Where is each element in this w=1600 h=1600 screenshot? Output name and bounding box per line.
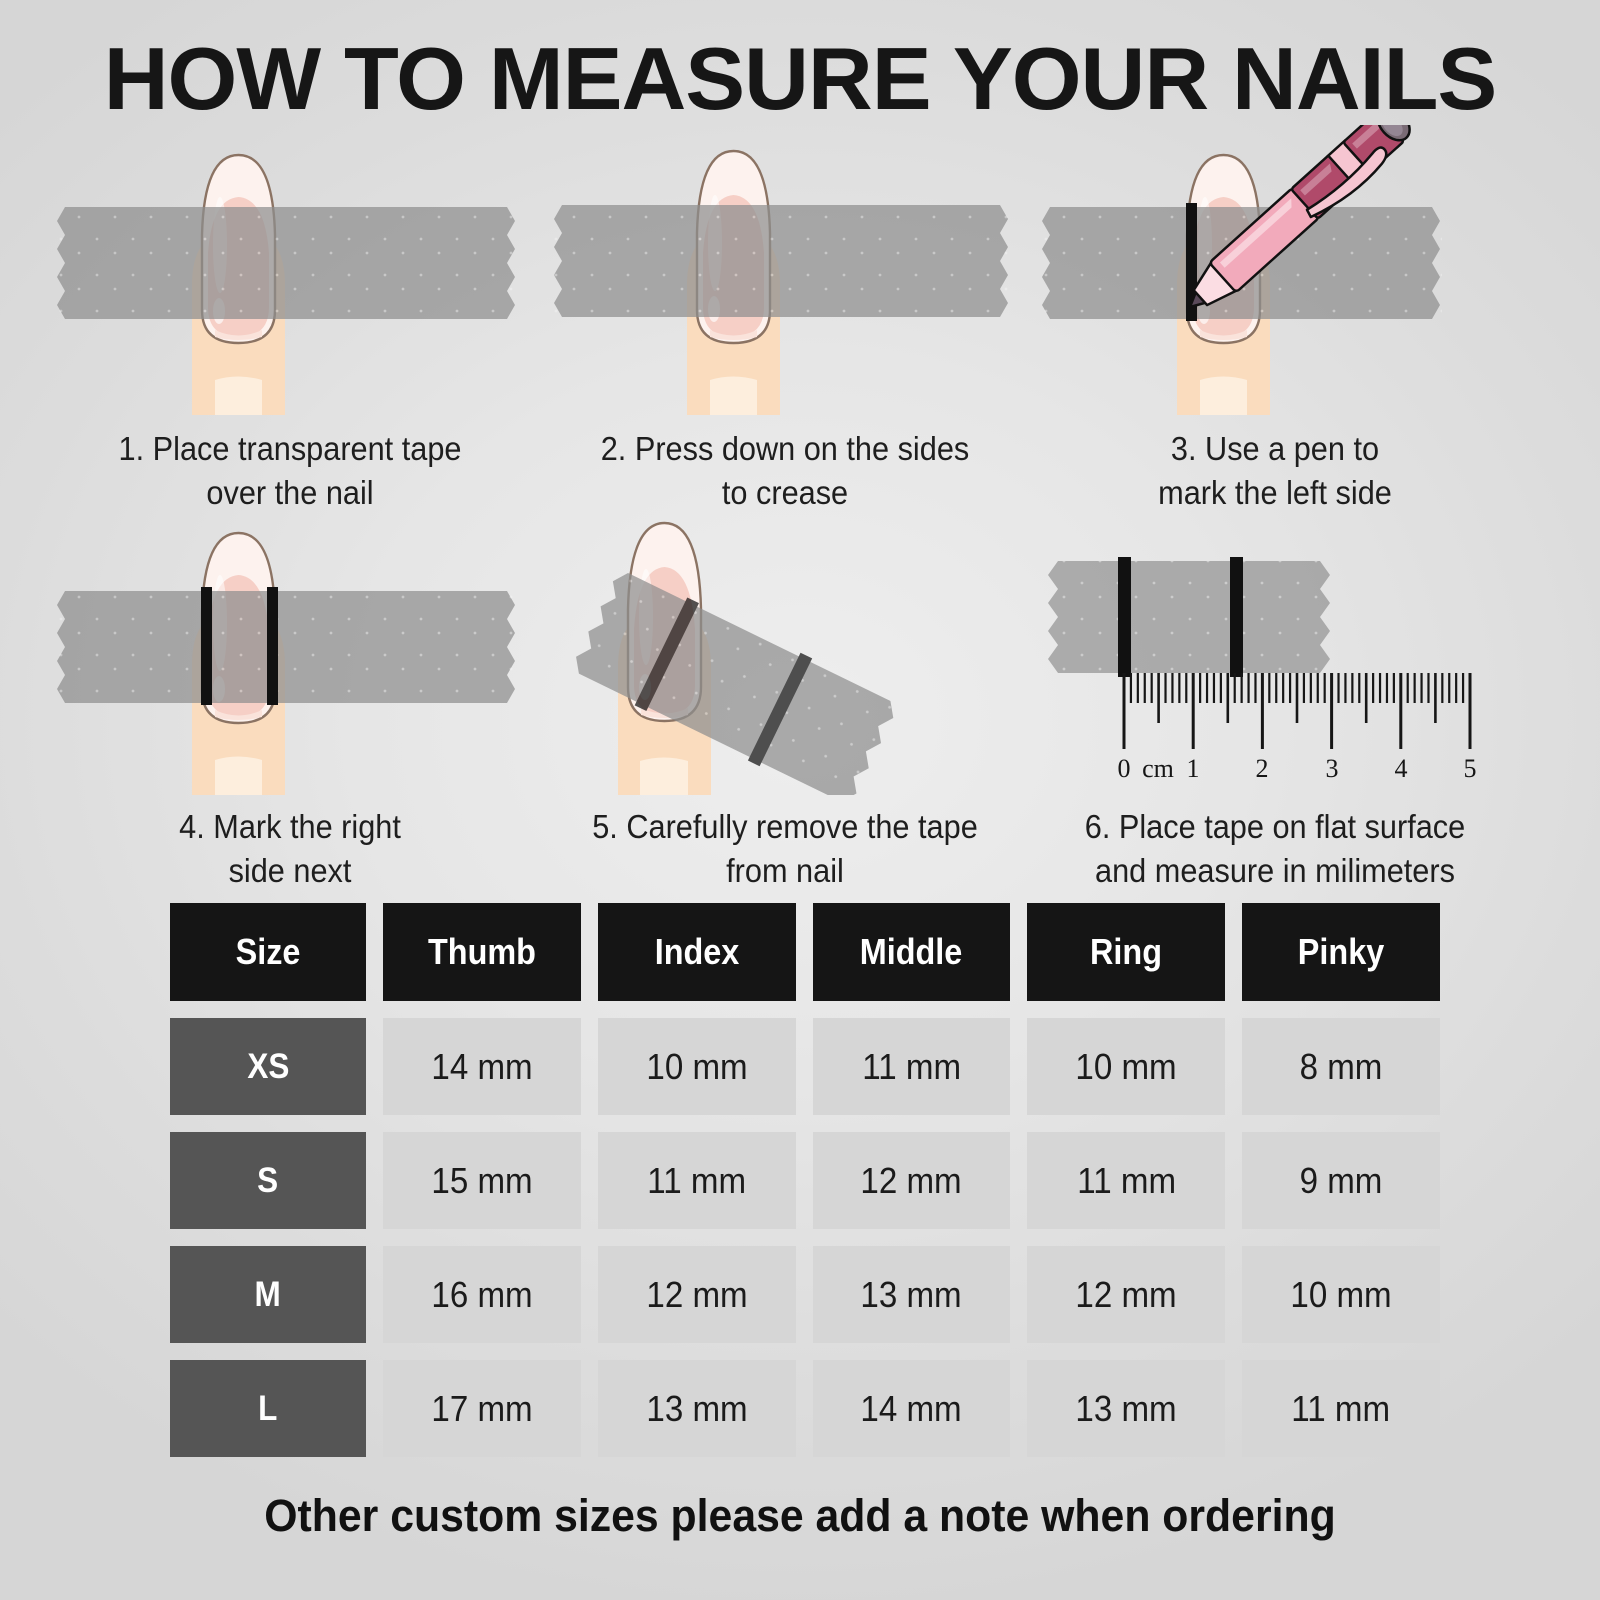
header-thumb: Thumb (383, 903, 581, 1001)
left-mark (201, 587, 212, 705)
table-row: L 17 mm 13 mm 14 mm 13 mm 11 mm (170, 1360, 1440, 1457)
table-row: S 15 mm 11 mm 12 mm 11 mm 9 mm (170, 1132, 1440, 1229)
infographic-page: HOW TO MEASURE YOUR NAILS (0, 0, 1600, 1600)
cell-m-thumb: 16 mm (383, 1246, 581, 1343)
header-pinky: Pinky (1242, 903, 1440, 1001)
step-2: 2. Press down on the sides to crease (550, 125, 1020, 514)
header-index: Index (598, 903, 796, 1001)
header-size: Size (170, 903, 366, 1001)
step-5-caption: 5. Carefully remove the tape from nail (553, 805, 1018, 892)
step-5-illustration (550, 505, 1020, 795)
cell-xs-thumb: 14 mm (383, 1018, 581, 1115)
table-header-row: Size Thumb Index Middle Ring Pinky (170, 903, 1440, 1001)
cell-m-index: 12 mm (598, 1246, 796, 1343)
step-6: 0 cm 1 2 3 4 5 6. Place tape on flat sur… (1040, 505, 1510, 892)
cell-l-index: 13 mm (598, 1360, 796, 1457)
size-label-m: M (170, 1246, 366, 1343)
step-4: 4. Mark the right side next (55, 505, 525, 892)
step-4-illustration (55, 505, 525, 795)
size-label-s: S (170, 1132, 366, 1229)
cell-xs-pinky: 8 mm (1242, 1018, 1440, 1115)
right-mark (267, 587, 278, 705)
step-2-caption: 2. Press down on the sides to crease (566, 427, 1003, 514)
svg-text:4: 4 (1395, 754, 1408, 783)
step-3-caption: 3. Use a pen to mark the left side (1056, 427, 1493, 514)
ruler (1124, 673, 1470, 749)
step-1-caption: 1. Place transparent tape over the nail (71, 427, 508, 514)
size-label-l: L (170, 1360, 366, 1457)
header-middle: Middle (813, 903, 1011, 1001)
tape-strip (57, 207, 515, 319)
step-5: 5. Carefully remove the tape from nail (550, 505, 1020, 892)
size-label-xs: XS (170, 1018, 366, 1115)
ruler-labels: 0 cm 1 2 3 4 5 (1118, 754, 1477, 783)
size-table: Size Thumb Index Middle Ring Pinky XS 14… (170, 903, 1440, 1474)
svg-text:3: 3 (1326, 754, 1339, 783)
footer-note: Other custom sizes please add a note whe… (40, 1490, 1560, 1542)
tape-strip (57, 591, 515, 703)
step-2-illustration (550, 125, 1020, 415)
table-row: M 16 mm 12 mm 13 mm 12 mm 10 mm (170, 1246, 1440, 1343)
tape-strip-creased (554, 205, 1010, 317)
cell-s-middle: 12 mm (813, 1132, 1011, 1229)
step-6-caption: 6. Place tape on flat surface and measur… (1043, 805, 1508, 892)
cell-s-index: 11 mm (598, 1132, 796, 1229)
step-3: 3. Use a pen to mark the left side (1040, 125, 1510, 514)
cell-l-ring: 13 mm (1027, 1360, 1225, 1457)
step-1-illustration (55, 125, 525, 415)
svg-text:2: 2 (1256, 754, 1269, 783)
cell-xs-index: 10 mm (598, 1018, 796, 1115)
cell-m-ring: 12 mm (1027, 1246, 1225, 1343)
cell-xs-middle: 11 mm (813, 1018, 1011, 1115)
step-4-caption: 4. Mark the right side next (71, 805, 508, 892)
table-row: XS 14 mm 10 mm 11 mm 10 mm 8 mm (170, 1018, 1440, 1115)
svg-text:cm: cm (1142, 754, 1174, 783)
cell-xs-ring: 10 mm (1027, 1018, 1225, 1115)
cell-m-pinky: 10 mm (1242, 1246, 1440, 1343)
svg-text:1: 1 (1187, 754, 1200, 783)
cell-l-middle: 14 mm (813, 1360, 1011, 1457)
cell-l-pinky: 11 mm (1242, 1360, 1440, 1457)
cell-s-pinky: 9 mm (1242, 1132, 1440, 1229)
svg-text:0: 0 (1118, 754, 1131, 783)
cell-s-ring: 11 mm (1027, 1132, 1225, 1229)
right-mark (1230, 557, 1243, 677)
left-mark (1118, 557, 1131, 677)
step-1: 1. Place transparent tape over the nail (55, 125, 525, 514)
cell-s-thumb: 15 mm (383, 1132, 581, 1229)
tape-flat (1048, 561, 1330, 673)
svg-text:5: 5 (1464, 754, 1477, 783)
cell-l-thumb: 17 mm (383, 1360, 581, 1457)
step-6-illustration: 0 cm 1 2 3 4 5 (1040, 505, 1510, 795)
cell-m-middle: 13 mm (813, 1246, 1011, 1343)
header-ring: Ring (1027, 903, 1225, 1001)
step-3-illustration (1040, 125, 1510, 415)
page-title: HOW TO MEASURE YOUR NAILS (0, 28, 1600, 130)
